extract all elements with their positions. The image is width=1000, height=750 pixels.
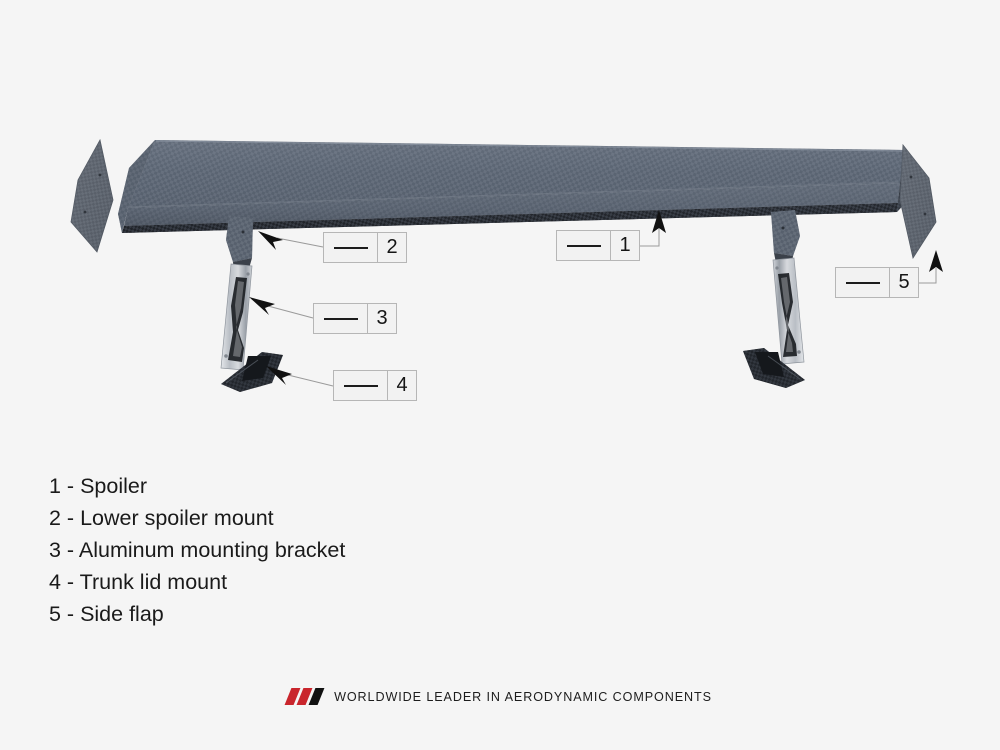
mount-assembly-right xyxy=(743,210,805,388)
callout-dash-1 xyxy=(557,231,611,260)
callout-box-5[interactable]: 5 xyxy=(835,267,919,298)
callout-number-5: 5 xyxy=(890,268,918,297)
legend-item-4: 4 - Trunk lid mount xyxy=(49,566,569,598)
leader-line-4 xyxy=(288,375,333,386)
callout-box-2[interactable]: 2 xyxy=(323,232,407,263)
arrowhead-2 xyxy=(258,231,283,250)
callout-box-3[interactable]: 3 xyxy=(313,303,397,334)
diagram-stage: 1 2 3 4 5 1 - Spoiler 2 - Lower spoiler … xyxy=(0,0,1000,750)
legend-item-1: 1 - Spoiler xyxy=(49,470,569,502)
callout-dash-4 xyxy=(334,371,388,400)
callout-dash-5 xyxy=(836,268,890,297)
spoiler-assembly-illustration xyxy=(0,0,1000,750)
legend-item-5: 5 - Side flap xyxy=(49,598,569,630)
aluminum-mounting-bracket-right xyxy=(773,258,804,364)
leader-line-5 xyxy=(917,268,936,283)
callout-box-1[interactable]: 1 xyxy=(556,230,640,261)
brand-slashes-logo xyxy=(288,688,321,705)
diagram-page: 1 2 3 4 5 1 - Spoiler 2 - Lower spoiler … xyxy=(0,0,1000,750)
footer-tagline: WORLDWIDE LEADER IN AERODYNAMIC COMPONEN… xyxy=(334,690,712,704)
callout-number-2: 2 xyxy=(378,233,406,262)
leader-line-1 xyxy=(638,228,659,246)
callout-box-4[interactable]: 4 xyxy=(333,370,417,401)
callout-number-4: 4 xyxy=(388,371,416,400)
leader-line-2 xyxy=(277,238,323,247)
arrowhead-3 xyxy=(249,297,275,315)
callout-dash-2 xyxy=(324,233,378,262)
legend-item-3: 3 - Aluminum mounting bracket xyxy=(49,534,569,566)
leader-line-3 xyxy=(268,306,313,318)
callout-number-1: 1 xyxy=(611,231,639,260)
callout-dash-3 xyxy=(314,304,368,333)
legend-item-2: 2 - Lower spoiler mount xyxy=(49,502,569,534)
aluminum-mounting-bracket-left xyxy=(221,264,252,370)
side-flap-left xyxy=(71,140,113,252)
footer-bar: WORLDWIDE LEADER IN AERODYNAMIC COMPONEN… xyxy=(0,688,1000,705)
parts-legend: 1 - Spoiler 2 - Lower spoiler mount 3 - … xyxy=(49,470,569,630)
callout-number-3: 3 xyxy=(368,304,396,333)
side-flap-right xyxy=(900,145,936,258)
